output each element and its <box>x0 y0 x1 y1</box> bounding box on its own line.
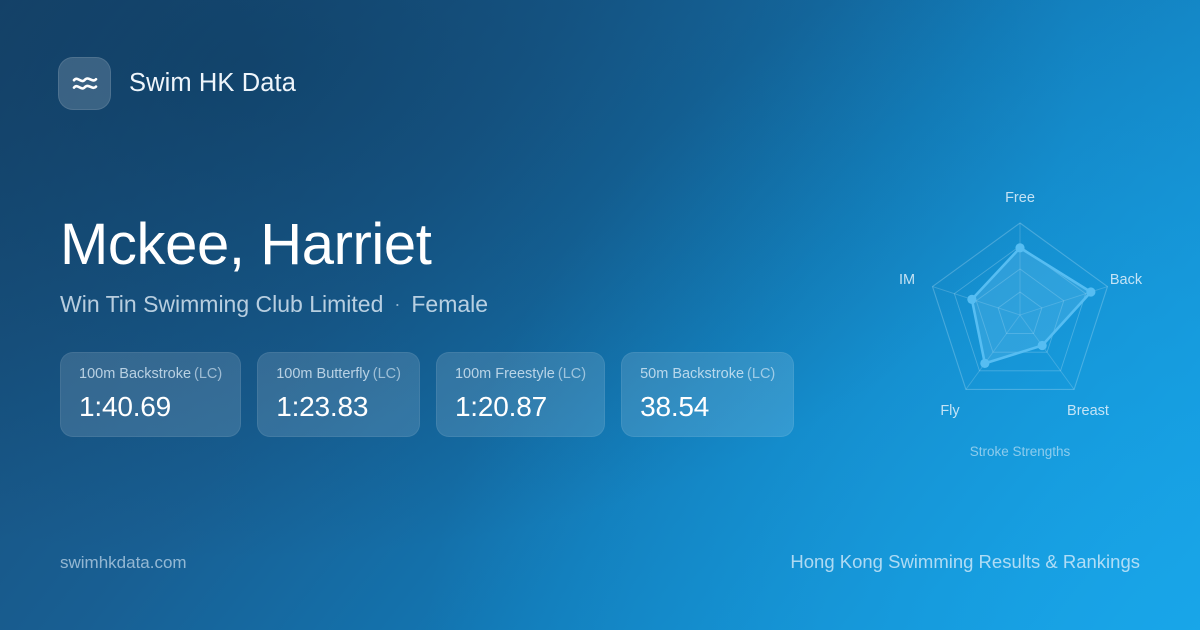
stat-card-value: 38.54 <box>640 393 775 421</box>
og-card-root: Swim HK Data Mckee, Harriet Win Tin Swim… <box>0 0 1200 630</box>
stat-card-course: (LC) <box>194 366 222 382</box>
stat-card-value: 1:40.69 <box>79 393 222 421</box>
stroke-strengths-radar-chart: FreeBackBreastFlyIM Stroke Strengths <box>860 160 1180 480</box>
radar-data-point-breast <box>1038 341 1047 350</box>
stat-card-label: 100m Butterfly(LC) <box>276 367 401 382</box>
stat-card-event: 100m Backstroke <box>79 366 191 382</box>
radar-data-point-fly <box>980 359 989 368</box>
meta-separator: · <box>394 295 400 313</box>
stat-card-event: 100m Butterfly <box>276 366 370 382</box>
stat-card-label: 100m Backstroke(LC) <box>79 367 222 382</box>
radar-data-point-back <box>1086 287 1095 296</box>
athlete-club: Win Tin Swimming Club Limited <box>60 291 383 318</box>
stat-card-event: 100m Freestyle <box>455 366 555 382</box>
radar-axis-label-breast: Breast <box>1067 403 1109 419</box>
stat-card-course: (LC) <box>747 366 775 382</box>
athlete-meta: Win Tin Swimming Club Limited · Female <box>60 291 488 318</box>
stat-card-value: 1:20.87 <box>455 393 586 421</box>
wave-icon <box>58 57 111 110</box>
radar-caption: Stroke Strengths <box>970 444 1071 459</box>
radar-axis-label-im: IM <box>899 272 915 288</box>
radar-axis-label-back: Back <box>1110 272 1143 288</box>
stat-card-value: 1:23.83 <box>276 393 401 421</box>
best-times-list: 100m Backstroke(LC) 1:40.69 100m Butterf… <box>60 352 794 437</box>
stat-card-label: 50m Backstroke(LC) <box>640 367 775 382</box>
brand-logo[interactable]: Swim HK Data <box>58 57 296 110</box>
page-title: Mckee, Harriet <box>60 215 488 275</box>
stat-card-label: 100m Freestyle(LC) <box>455 367 586 382</box>
footer-tagline: Hong Kong Swimming Results & Rankings <box>790 551 1140 573</box>
radar-data-point-free <box>1015 243 1024 252</box>
footer-site-url[interactable]: swimhkdata.com <box>60 553 187 573</box>
stat-card[interactable]: 50m Backstroke(LC) 38.54 <box>621 352 794 437</box>
athlete-hero: Mckee, Harriet Win Tin Swimming Club Lim… <box>60 215 488 318</box>
stat-card-event: 50m Backstroke <box>640 366 744 382</box>
radar-data-area <box>972 248 1091 364</box>
athlete-gender: Female <box>411 291 488 318</box>
brand-name: Swim HK Data <box>129 69 296 98</box>
stat-card-course: (LC) <box>373 366 401 382</box>
stat-card[interactable]: 100m Freestyle(LC) 1:20.87 <box>436 352 605 437</box>
radar-data-point-im <box>967 295 976 304</box>
stat-card[interactable]: 100m Backstroke(LC) 1:40.69 <box>60 352 241 437</box>
radar-axis-label-free: Free <box>1005 190 1035 206</box>
radar-axis-label-fly: Fly <box>940 403 960 419</box>
stat-card[interactable]: 100m Butterfly(LC) 1:23.83 <box>257 352 420 437</box>
stat-card-course: (LC) <box>558 366 586 382</box>
